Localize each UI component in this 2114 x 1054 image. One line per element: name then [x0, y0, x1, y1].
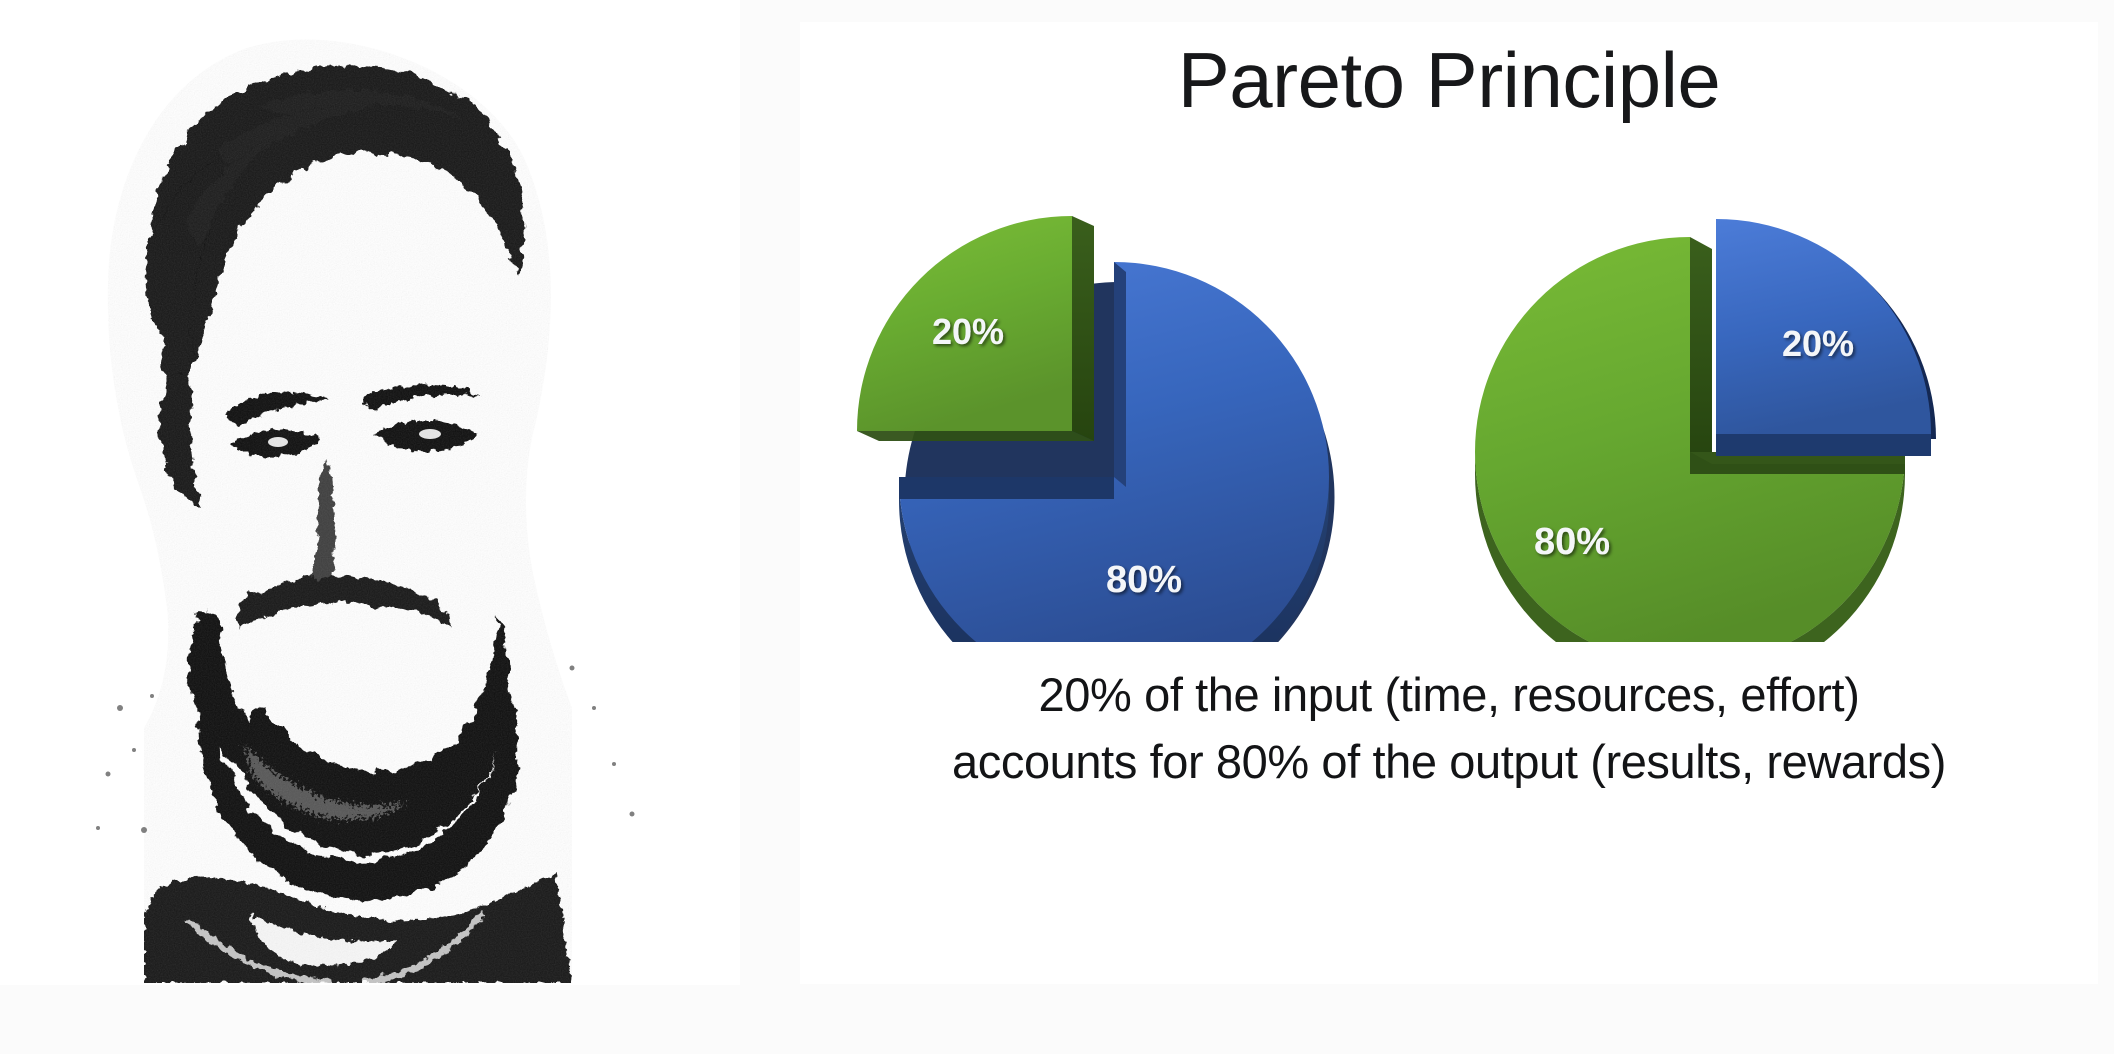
output-pie-chart: 80% 20%: [1410, 122, 2030, 642]
input-slice-80-inner-wall: [899, 477, 1114, 499]
input-slice-80-label: 80%: [1106, 559, 1182, 601]
caption-line-2: accounts for 80% of the output (results,…: [800, 729, 2098, 796]
input-pie-chart: 20% 80%: [814, 122, 1414, 642]
output-slice-80-label: 80%: [1534, 521, 1610, 563]
portrait-panel: [0, 0, 740, 985]
caption-line-1: 20% of the input (time, resources, effor…: [800, 662, 2098, 729]
caption-block: 20% of the input (time, resources, effor…: [800, 662, 2098, 795]
chart-panel: Pareto Principle: [800, 22, 2098, 984]
output-slice-20-label: 20%: [1782, 323, 1854, 364]
input-slice-20-side: [1072, 216, 1094, 441]
slide-canvas: Pareto Principle: [0, 0, 2114, 1054]
portrait-image: [0, 0, 740, 985]
pareto-portrait-illustration: [12, 8, 728, 983]
input-slice-20[interactable]: 20%: [857, 216, 1094, 441]
page-title: Pareto Principle: [800, 40, 2098, 122]
output-slice-80-inner-wall-v: [1690, 237, 1712, 464]
output-slice-20[interactable]: 20%: [1716, 219, 1936, 456]
input-slice-20-label: 20%: [932, 311, 1004, 352]
pie-charts-group: 20% 80%: [800, 122, 2098, 642]
output-slice-20-side: [1716, 434, 1931, 456]
